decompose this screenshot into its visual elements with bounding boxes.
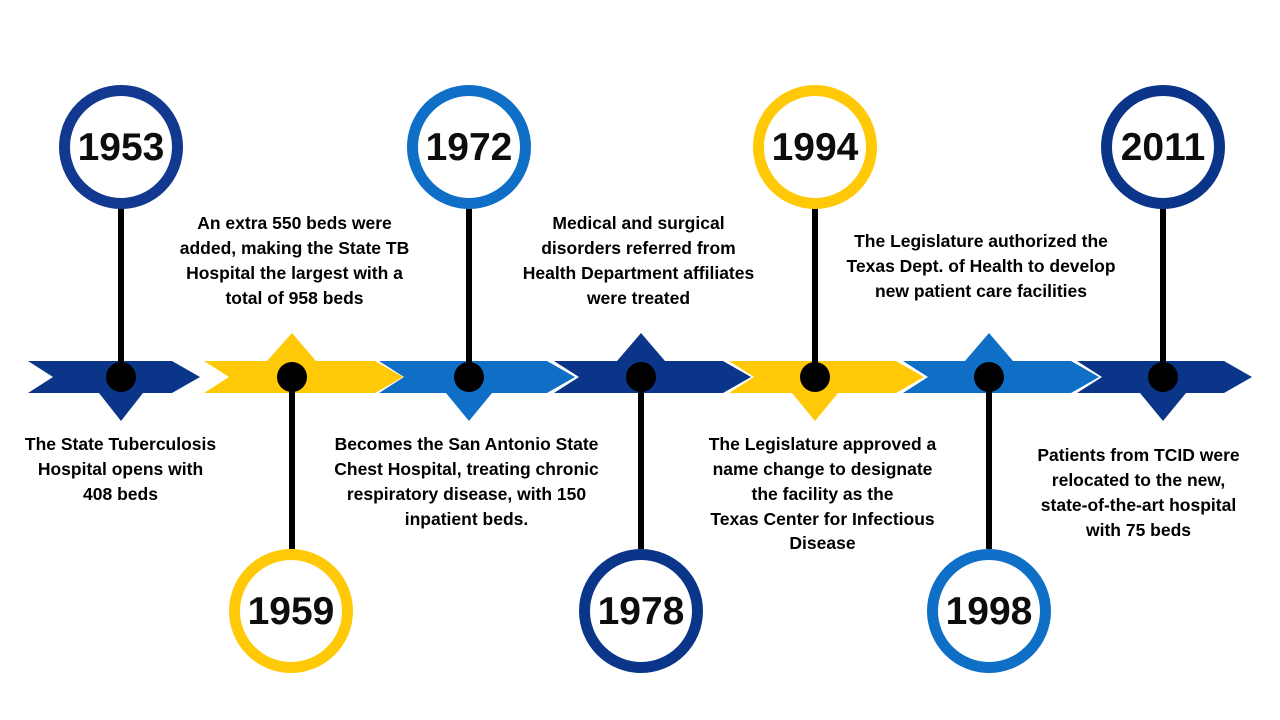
caption-1972: Becomes the San Antonio StateChest Hospi…	[311, 432, 622, 531]
timeline-infographic: 1953 1959 1972 1978 1994 1998 2011 The S…	[0, 0, 1280, 720]
timeline-dot-2011	[1148, 362, 1178, 392]
year-marker-1978[interactable]: 1978	[579, 549, 703, 673]
caption-1978: Medical and surgicaldisorders referred f…	[501, 211, 776, 310]
year-label-1998: 1998	[946, 592, 1033, 631]
year-label-1953: 1953	[78, 128, 165, 167]
timeline-dot-1998	[974, 362, 1004, 392]
year-label-1959: 1959	[248, 592, 335, 631]
caption-1959: An extra 550 beds wereadded, making the …	[166, 211, 423, 310]
year-label-1972: 1972	[426, 128, 513, 167]
year-marker-1972[interactable]: 1972	[407, 85, 531, 209]
timeline-dot-1953	[106, 362, 136, 392]
year-marker-1998[interactable]: 1998	[927, 549, 1051, 673]
timeline-dot-1994	[800, 362, 830, 392]
stem-1978	[638, 377, 644, 549]
caption-1953: The State TuberculosisHospital opens wit…	[8, 432, 233, 507]
year-marker-1994[interactable]: 1994	[753, 85, 877, 209]
stem-1998	[986, 377, 992, 549]
caption-2011: Patients from TCID wererelocated to the …	[1007, 443, 1270, 542]
timeline-dot-1978	[626, 362, 656, 392]
timeline-dot-1972	[454, 362, 484, 392]
year-label-1994: 1994	[772, 128, 859, 167]
stem-2011	[1160, 205, 1166, 377]
caption-1998: The Legislature authorized theTexas Dept…	[822, 229, 1140, 304]
timeline-dot-1959	[277, 362, 307, 392]
year-marker-2011[interactable]: 2011	[1101, 85, 1225, 209]
stem-1959	[289, 377, 295, 549]
stem-1972	[466, 205, 472, 377]
stem-1953	[118, 205, 124, 377]
caption-1994: The Legislature approved aname change to…	[675, 432, 970, 556]
year-marker-1953[interactable]: 1953	[59, 85, 183, 209]
stem-1994	[812, 205, 818, 377]
year-marker-1959[interactable]: 1959	[229, 549, 353, 673]
year-label-2011: 2011	[1121, 128, 1206, 167]
year-label-1978: 1978	[598, 592, 685, 631]
